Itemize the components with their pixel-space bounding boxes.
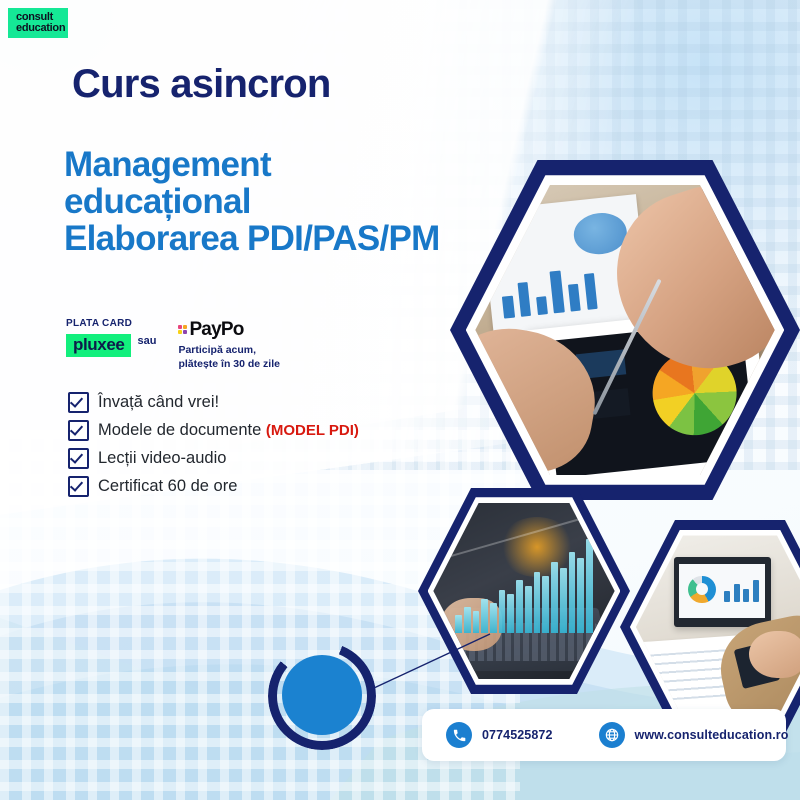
feature-label: Învață când vrei! <box>98 393 219 412</box>
brand-logo[interactable]: consult education <box>8 8 68 38</box>
globe-icon <box>599 722 625 748</box>
contact-website[interactable]: www.consulteducation.ro <box>599 722 789 748</box>
list-item: Modele de documente (MODEL PDI) <box>68 416 359 444</box>
title-line-1: Management <box>64 146 440 183</box>
payment-card-group: PLATA CARD pluxee sau <box>66 318 156 371</box>
promo-poster: consult education Curs asincron Manageme… <box>0 0 800 800</box>
page-kicker: Curs asincron <box>72 62 331 107</box>
paypo-group: PayPo Participă acum, plătește în 30 de … <box>178 318 280 371</box>
checkbox-checked-icon <box>68 476 89 497</box>
feature-highlight: (MODEL PDI) <box>266 422 359 439</box>
decorative-circle <box>268 642 376 750</box>
page-title: Management educațional Elaborarea PDI/PA… <box>64 146 440 257</box>
feature-label: Certificat 60 de ore <box>98 477 237 496</box>
paypo-wordmark: PayPo <box>189 320 243 339</box>
paypo-dots-icon <box>178 325 187 334</box>
contact-bar: 0774525872 www.consulteducation.ro <box>422 709 786 761</box>
paypo-line-2: plătește în 30 de zile <box>178 357 280 371</box>
feature-label: Modele de documente (MODEL PDI) <box>98 421 359 440</box>
payment-card-label: PLATA CARD <box>66 318 156 329</box>
website-url: www.consulteducation.ro <box>635 728 789 742</box>
payment-separator: sau <box>137 335 156 347</box>
hexagon-photo-charts-tablet <box>450 160 800 500</box>
paypo-line-1: Participă acum, <box>178 343 280 357</box>
feature-label: Lecții video-audio <box>98 449 226 468</box>
list-item: Lecții video-audio <box>68 444 359 472</box>
title-line-2: educațional <box>64 183 440 220</box>
title-line-3: Elaborarea PDI/PAS/PM <box>64 220 440 257</box>
pluxee-logo[interactable]: pluxee <box>66 334 131 357</box>
checkbox-checked-icon <box>68 448 89 469</box>
paypo-logo[interactable]: PayPo <box>178 320 280 339</box>
phone-icon <box>446 722 472 748</box>
logo-line-2: education <box>16 22 65 34</box>
hexagon-photo-office-meeting <box>620 520 800 734</box>
list-item: Certificat 60 de ore <box>68 472 359 500</box>
checkbox-checked-icon <box>68 420 89 441</box>
payment-methods: PLATA CARD pluxee sau PayPo Participă ac… <box>66 318 280 371</box>
feature-list: Învață când vrei! Modele de documente (M… <box>68 388 359 500</box>
decorative-leader-line <box>372 632 492 692</box>
decorative-circle-ring <box>268 642 376 750</box>
phone-number: 0774525872 <box>482 728 553 742</box>
logo-text: consult education <box>16 12 65 34</box>
checkbox-checked-icon <box>68 392 89 413</box>
contact-phone[interactable]: 0774525872 <box>446 722 553 748</box>
list-item: Învață când vrei! <box>68 388 359 416</box>
